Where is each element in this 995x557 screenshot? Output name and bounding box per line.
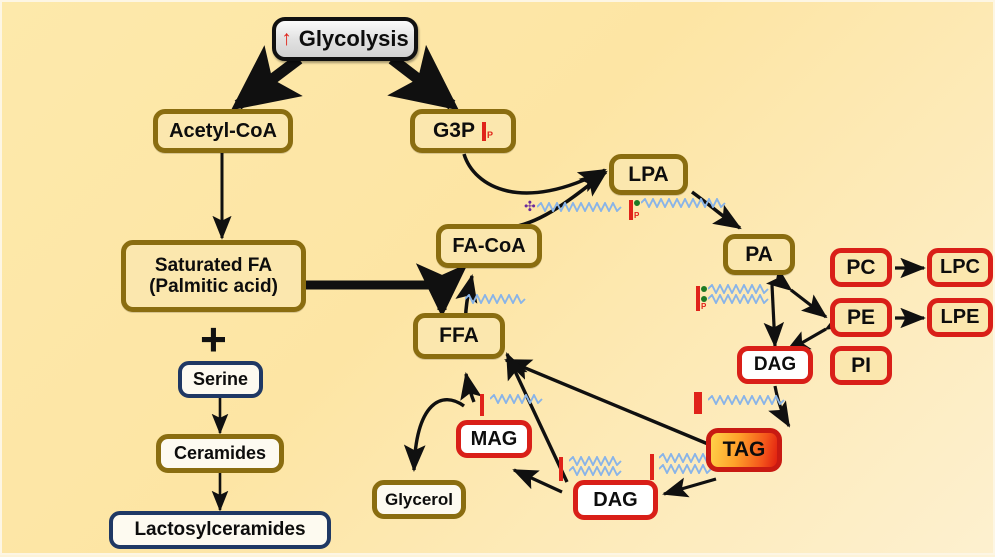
- lactosylceramides-label: Lactosylceramides: [134, 519, 305, 540]
- acyl-chain-icon: [537, 202, 629, 212]
- glycerol-label: Glycerol: [385, 490, 453, 509]
- glycolysis-up-arrow-icon: ↑: [281, 27, 292, 51]
- edge-glycolysis-to-g3p: [392, 59, 452, 105]
- structure-fa-coa: ✣: [524, 199, 634, 215]
- mag-label: MAG: [471, 428, 518, 450]
- node-fa-coa[interactable]: FA-CoA: [436, 224, 542, 268]
- lpa-label: LPA: [628, 163, 668, 187]
- node-pi[interactable]: PI: [830, 346, 892, 385]
- lpe-label: LPE: [941, 306, 980, 328]
- saturated-fa-label: Saturated FA (Palmitic acid): [149, 255, 278, 298]
- glycerol-stem-icon: [698, 392, 702, 414]
- phosphate-stem-icon: [696, 286, 700, 311]
- node-lpe[interactable]: LPE: [927, 298, 993, 337]
- phosphate-label: P: [701, 302, 706, 311]
- g3p-phosphate-icon: P: [482, 122, 493, 141]
- acyl-chain-icon: [641, 198, 733, 208]
- structure-pa: P: [696, 285, 826, 315]
- glycolysis-label: Glycolysis: [299, 27, 409, 52]
- node-tag[interactable]: TAG: [706, 428, 782, 472]
- fa-coa-label: FA-CoA: [452, 235, 525, 257]
- structure-lpa: P: [629, 198, 749, 224]
- coa-purple-icon: ✣: [524, 199, 536, 213]
- node-lactosylceramides[interactable]: Lactosylceramides: [109, 511, 331, 549]
- node-g3p[interactable]: G3P P: [410, 109, 516, 153]
- phosphate-stem-icon: [629, 200, 633, 220]
- acetyl-coa-label: Acetyl-CoA: [169, 120, 277, 142]
- structure-mag: [480, 394, 560, 416]
- node-pc[interactable]: PC: [830, 248, 892, 287]
- acyl-chain-icon: [465, 294, 537, 304]
- node-lpc[interactable]: LPC: [927, 248, 993, 287]
- structure-ffa: [465, 294, 545, 308]
- glycerol-stem-icon: [480, 394, 484, 416]
- node-ceramides[interactable]: Ceramides: [156, 434, 284, 473]
- edge-dag-lower-to-glycerol: [514, 470, 562, 492]
- ffa-label: FFA: [439, 324, 479, 348]
- edge-tag-to-dag-lower: [664, 479, 716, 494]
- acyl-chain-icon: [569, 466, 631, 476]
- node-ffa[interactable]: FFA: [413, 313, 505, 359]
- node-serine[interactable]: Serine: [178, 361, 263, 398]
- acyl-chain-icon: [708, 395, 796, 405]
- edge-glycolysis-to-acetylcoa: [238, 59, 299, 105]
- edge-mag-to-ffa: [466, 374, 474, 402]
- oxygen-dot-icon: [634, 200, 640, 206]
- glycerol-stem-icon: [650, 454, 654, 480]
- pe-label: PE: [847, 306, 875, 330]
- node-lpa[interactable]: LPA: [609, 154, 688, 195]
- tag-label: TAG: [723, 438, 766, 462]
- edge-saturatedfa-to-ffa: [305, 285, 442, 310]
- plus-operator: +: [200, 316, 227, 362]
- node-saturated-fa[interactable]: Saturated FA (Palmitic acid): [121, 240, 306, 312]
- node-dag-lower[interactable]: DAG: [573, 480, 658, 520]
- node-dag-upper[interactable]: DAG: [737, 346, 813, 384]
- dag-lower-label: DAG: [593, 489, 637, 511]
- acyl-chain-icon: [569, 456, 631, 466]
- edge-dag-lower-to-ffa: [507, 354, 567, 482]
- edge-g3p-to-lpa: [464, 154, 605, 193]
- g3p-label: G3P: [433, 119, 475, 143]
- serine-label: Serine: [193, 369, 248, 389]
- oxygen-dot-icon: [701, 296, 707, 302]
- pc-label: PC: [846, 256, 875, 280]
- pi-label: PI: [851, 354, 871, 378]
- acyl-chain-icon: [708, 294, 784, 304]
- pathway-diagram: ↑ Glycolysis Acetyl-CoA G3P P LPA FA-CoA…: [0, 0, 995, 555]
- node-glycolysis[interactable]: ↑ Glycolysis: [272, 17, 418, 61]
- structure-tag: [698, 392, 818, 414]
- structure-dag-lower-left: [559, 457, 639, 481]
- glycerol-stem-icon: [559, 457, 563, 481]
- node-acetyl-coa[interactable]: Acetyl-CoA: [153, 109, 293, 153]
- node-pa[interactable]: PA: [723, 234, 795, 275]
- acyl-chain-icon: [708, 284, 784, 294]
- acyl-chain-icon: [490, 394, 550, 404]
- node-mag[interactable]: MAG: [456, 420, 532, 458]
- node-glycerol[interactable]: Glycerol: [372, 480, 466, 519]
- pa-label: PA: [745, 243, 773, 267]
- lpc-label: LPC: [940, 256, 980, 278]
- phosphate-label: P: [634, 211, 639, 220]
- oxygen-dot-icon: [701, 286, 707, 292]
- ceramides-label: Ceramides: [174, 443, 266, 463]
- node-pe[interactable]: PE: [830, 298, 892, 337]
- dag-upper-label: DAG: [754, 354, 796, 375]
